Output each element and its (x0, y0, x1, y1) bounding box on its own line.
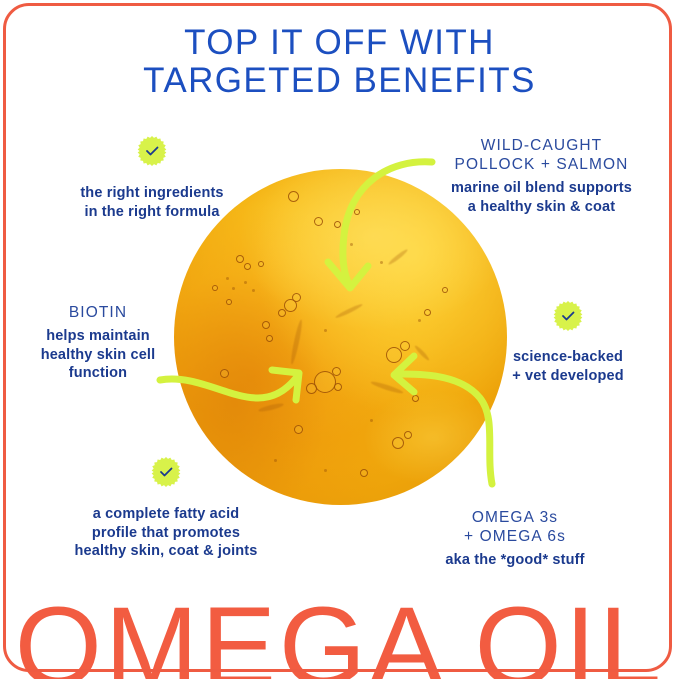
oil-bubble (334, 383, 342, 391)
oil-speck (274, 459, 277, 462)
oil-speck (252, 289, 255, 292)
title-line-1: TOP IT OFF WITH (0, 24, 679, 62)
callout-body: the right ingredients in the right formu… (32, 184, 272, 221)
oil-speck (380, 261, 383, 264)
callout-heading: OMEGA 3s + OMEGA 6s (395, 508, 635, 546)
check-icon (137, 136, 167, 166)
oil-bubble (334, 221, 341, 228)
oil-bubble (386, 347, 402, 363)
callout-body: marine oil blend supports a healthy skin… (419, 179, 664, 216)
check-badge (151, 457, 181, 487)
oil-bubble (400, 341, 410, 351)
bottom-banner-text: OMEGA OIL (0, 591, 679, 679)
callout-wild-caught: WILD-CAUGHT POLLOCK + SALMON marine oil … (419, 136, 664, 216)
oil-bubble (292, 293, 301, 302)
callout-omega: OMEGA 3s + OMEGA 6s aka the *good* stuff (395, 508, 635, 570)
callout-body: a complete fatty acid profile that promo… (45, 505, 287, 561)
oil-bubble (360, 469, 368, 477)
oil-bubble (442, 287, 448, 293)
callout-fatty-acid: a complete fatty acid profile that promo… (45, 505, 287, 561)
oil-speck (324, 469, 327, 472)
oil-speck (244, 281, 247, 284)
oil-speck (226, 277, 229, 280)
callout-biotin: BIOTIN helps maintain healthy skin cell … (18, 303, 178, 383)
oil-bubble (258, 261, 264, 267)
page-title: TOP IT OFF WITH TARGETED BENEFITS (0, 24, 679, 100)
oil-bubble (278, 309, 286, 317)
callout-body: helps maintain healthy skin cell functio… (18, 327, 178, 383)
callout-body: science-backed + vet developed (480, 348, 656, 385)
oil-bubble (306, 383, 317, 394)
oil-bubble (354, 209, 360, 215)
oil-bubble (266, 335, 273, 342)
title-line-2: TARGETED BENEFITS (0, 62, 679, 100)
oil-speck (350, 243, 353, 246)
check-icon (151, 457, 181, 487)
oil-bubble (412, 395, 419, 402)
oil-bubble (332, 367, 341, 376)
oil-speck (232, 287, 235, 290)
oil-bubble (262, 321, 270, 329)
callout-science-backed: science-backed + vet developed (480, 348, 656, 385)
oil-speck (418, 319, 421, 322)
oil-bubble (392, 437, 404, 449)
oil-speck (370, 419, 373, 422)
oil-bubble (404, 431, 412, 439)
oil-bubble (220, 369, 229, 378)
oil-bubble (212, 285, 218, 291)
callout-body: aka the *good* stuff (395, 551, 635, 570)
oil-bubble (236, 255, 244, 263)
infographic-canvas: TOP IT OFF WITH TARGETED BENEFITS the ri… (0, 0, 679, 679)
oil-bubble (244, 263, 251, 270)
check-badge (553, 301, 583, 331)
callout-heading: BIOTIN (18, 303, 178, 322)
oil-speck (324, 329, 327, 332)
check-icon (553, 301, 583, 331)
callout-right-ingredients: the right ingredients in the right formu… (32, 184, 272, 221)
oil-bubble (294, 425, 303, 434)
oil-bubble (424, 309, 431, 316)
oil-bubble (226, 299, 232, 305)
check-badge (137, 136, 167, 166)
callout-heading: WILD-CAUGHT POLLOCK + SALMON (419, 136, 664, 174)
oil-bubble (288, 191, 299, 202)
oil-bubble (314, 217, 323, 226)
